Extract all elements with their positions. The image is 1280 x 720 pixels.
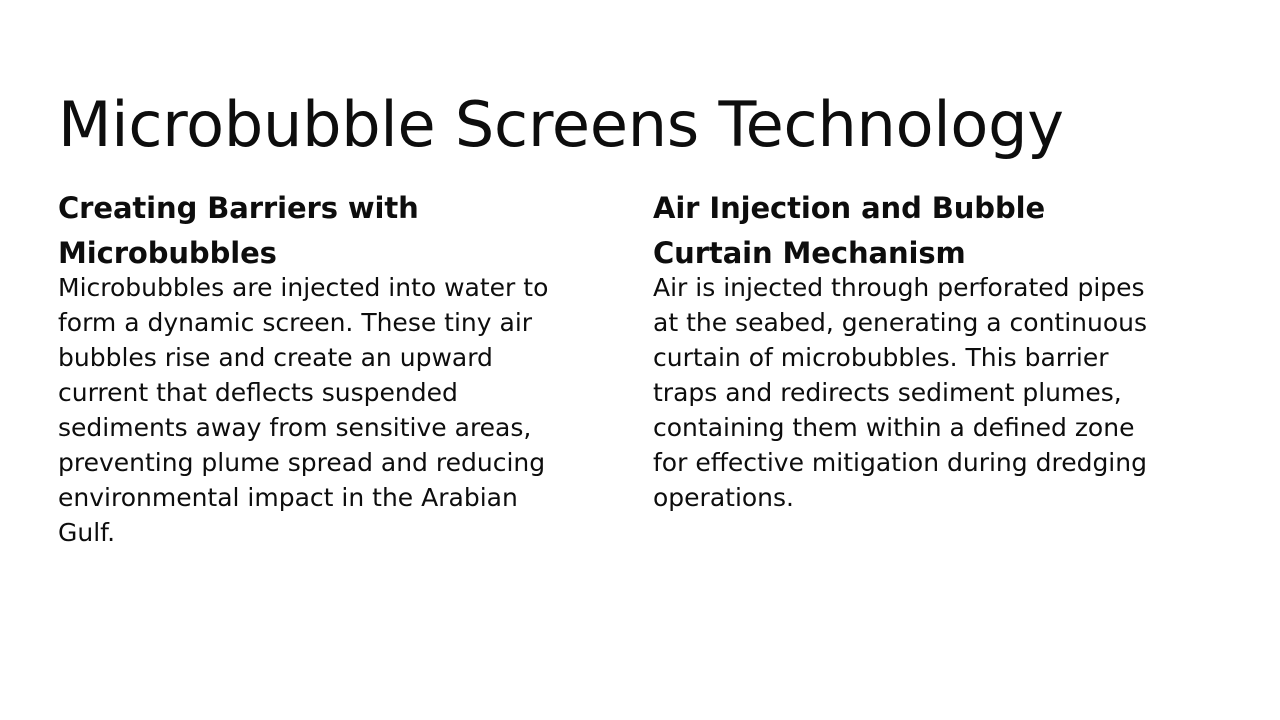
column-heading-right: Air Injection and Bubble Curtain Mechani… (653, 186, 1153, 276)
content-column-left: Creating Barriers with Microbubbles Micr… (58, 186, 558, 550)
presentation-slide: Microbubble Screens Technology Creating … (0, 0, 1280, 720)
column-body-left: Microbubbles are injected into water to … (58, 270, 558, 550)
page-title: Microbubble Screens Technology (58, 90, 1223, 159)
column-body-right: Air is injected through perforated pipes… (653, 270, 1153, 515)
content-column-right: Air Injection and Bubble Curtain Mechani… (653, 186, 1153, 550)
column-heading-left: Creating Barriers with Microbubbles (58, 186, 558, 276)
two-column-content: Creating Barriers with Microbubbles Micr… (58, 186, 1222, 550)
